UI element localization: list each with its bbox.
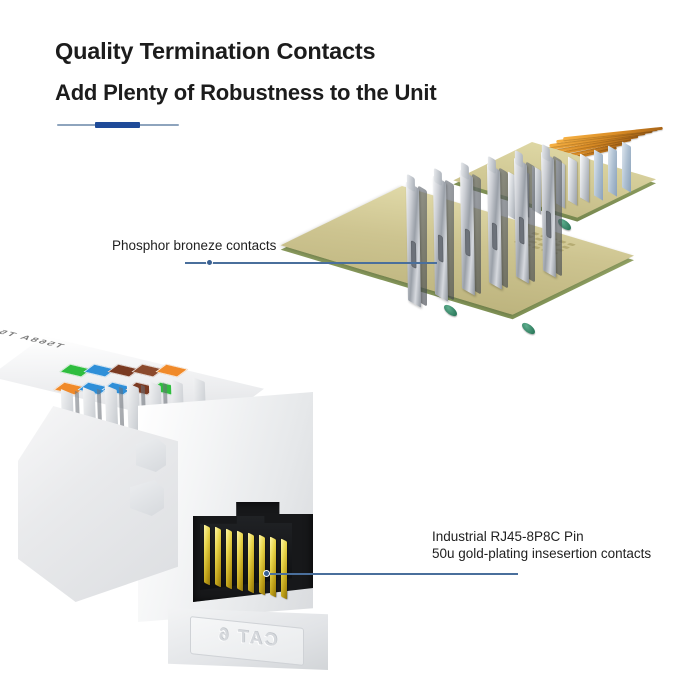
gold-contact-pin bbox=[215, 527, 221, 588]
phosphor-bronze-blade bbox=[514, 157, 529, 283]
idc-tooth-shield bbox=[594, 149, 603, 200]
phosphor-bronze-blade bbox=[487, 163, 502, 289]
blade-slot bbox=[519, 216, 524, 245]
callout-phosphor-bronze-label: Phosphor broneze contacts bbox=[112, 237, 276, 254]
blade-tip bbox=[488, 156, 496, 175]
accent-divider bbox=[57, 122, 179, 128]
gold-contact-pin bbox=[281, 539, 287, 600]
keystone-jack-illustration: T568A T568B bbox=[18, 330, 328, 660]
leader-dot-icon bbox=[206, 259, 213, 266]
phosphor-bronze-blade bbox=[433, 175, 448, 301]
idc-tooth bbox=[580, 153, 589, 202]
page-title-line1: Quality Termination Contacts bbox=[55, 38, 375, 65]
gold-contact-pin bbox=[259, 535, 265, 596]
contact-assembly-illustration bbox=[382, 128, 682, 350]
callout-rj45-pin-line2: 50u gold-plating insesertion contacts bbox=[432, 545, 651, 562]
blade-slot bbox=[411, 240, 416, 269]
blade-slot bbox=[546, 210, 551, 239]
phosphor-bronze-blade bbox=[406, 181, 421, 307]
pcb-via bbox=[444, 303, 458, 319]
phosphor-bronze-blade bbox=[460, 169, 475, 295]
page-title-line2: Add Plenty of Robustness to the Unit bbox=[55, 80, 436, 106]
blade-slot bbox=[492, 222, 497, 251]
gold-contact-pin bbox=[226, 529, 232, 590]
blade-slot bbox=[438, 234, 443, 263]
divider-accent-block bbox=[95, 122, 140, 128]
blade-tip bbox=[461, 162, 469, 181]
gold-contact-pin bbox=[204, 525, 210, 586]
idc-tooth bbox=[568, 156, 577, 205]
idc-tooth-shield bbox=[622, 141, 631, 192]
blade-tip bbox=[434, 168, 442, 187]
gold-contact-pin bbox=[248, 533, 254, 594]
blade-tip bbox=[407, 174, 415, 193]
callout-phosphor-bronze-leader-line bbox=[185, 262, 437, 264]
callout-rj45-pin-label: Industrial RJ45-8P8C Pin 50u gold-platin… bbox=[432, 528, 651, 562]
idc-tooth-shield bbox=[608, 145, 617, 196]
phosphor-bronze-blade bbox=[541, 151, 556, 277]
marketing-image-canvas: Quality Termination Contacts Add Plenty … bbox=[0, 0, 700, 700]
leader-dot-icon bbox=[263, 570, 270, 577]
blade-slot bbox=[465, 228, 470, 257]
pcb-via bbox=[522, 321, 536, 337]
callout-rj45-pin-leader-line bbox=[266, 573, 518, 575]
gold-contact-pin bbox=[270, 537, 276, 598]
callout-rj45-pin-line1: Industrial RJ45-8P8C Pin bbox=[432, 528, 651, 545]
gold-contact-pin bbox=[237, 531, 243, 592]
